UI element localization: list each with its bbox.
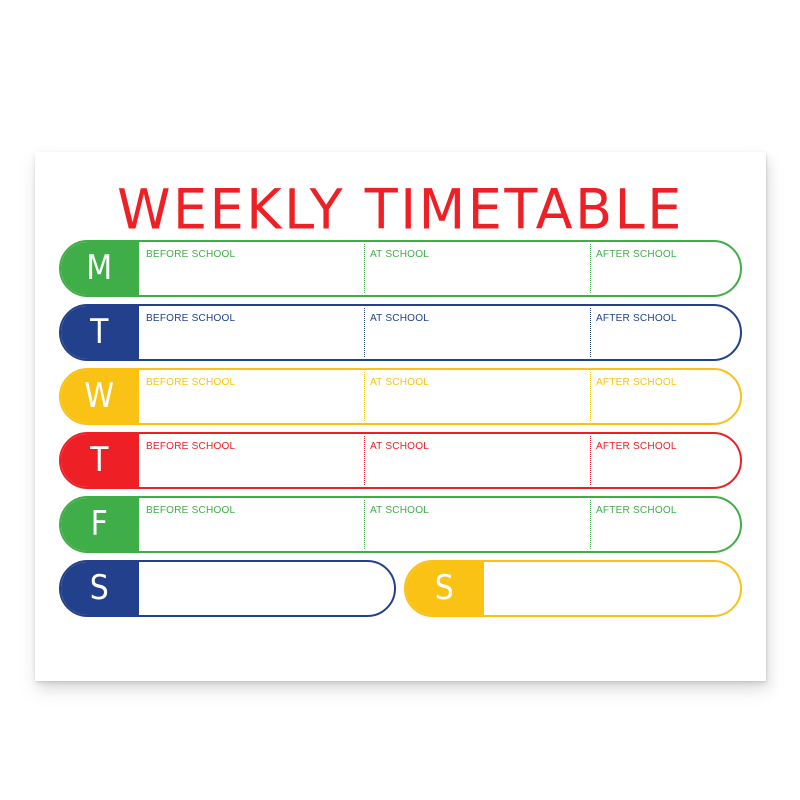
column-label-at-school: AT SCHOOL — [370, 248, 429, 260]
day-letter-thursday: T — [90, 444, 109, 478]
day-tab-friday: F — [60, 497, 139, 552]
cell-thursday-after-school[interactable]: AFTER SCHOOL — [590, 434, 740, 487]
column-label-before-school: BEFORE SCHOOL — [146, 248, 235, 260]
day-row-thursday[interactable]: T BEFORE SCHOOL AT SCHOOL AFTER SCHOOL — [59, 432, 742, 489]
write-area-monday[interactable]: BEFORE SCHOOL AT SCHOOL AFTER SCHOOL — [140, 242, 740, 295]
day-tab-wednesday: W — [60, 369, 139, 424]
cell-tuesday-at-school[interactable]: AT SCHOOL — [364, 306, 591, 359]
column-label-before-school: BEFORE SCHOOL — [146, 504, 235, 516]
cell-wednesday-before-school[interactable]: BEFORE SCHOOL — [140, 370, 364, 423]
day-row-friday[interactable]: F BEFORE SCHOOL AT SCHOOL AFTER SCHOOL — [59, 496, 742, 553]
day-row-monday[interactable]: M BEFORE SCHOOL AT SCHOOL AFTER SCHOOL — [59, 240, 742, 297]
day-tab-tuesday: T — [60, 305, 139, 360]
day-letter-sunday: S — [435, 572, 455, 606]
cell-monday-at-school[interactable]: AT SCHOOL — [364, 242, 591, 295]
cell-wednesday-after-school[interactable]: AFTER SCHOOL — [590, 370, 740, 423]
cell-monday-before-school[interactable]: BEFORE SCHOOL — [140, 242, 364, 295]
day-row-saturday[interactable]: S — [59, 560, 396, 617]
cell-thursday-at-school[interactable]: AT SCHOOL — [364, 434, 591, 487]
column-label-before-school: BEFORE SCHOOL — [146, 376, 235, 388]
write-area-thursday[interactable]: BEFORE SCHOOL AT SCHOOL AFTER SCHOOL — [140, 434, 740, 487]
weekday-rows: M BEFORE SCHOOL AT SCHOOL AFTER SCHOOL — [59, 240, 742, 617]
day-tab-saturday: S — [60, 561, 139, 616]
timetable-screenshot: WEEKLY TIMETABLE M BEFORE SCHOOL AT SCHO… — [0, 0, 800, 800]
cell-friday-before-school[interactable]: BEFORE SCHOOL — [140, 498, 364, 551]
day-letter-monday: M — [86, 252, 112, 286]
day-row-tuesday[interactable]: T BEFORE SCHOOL AT SCHOOL AFTER SCHOOL — [59, 304, 742, 361]
cell-friday-after-school[interactable]: AFTER SCHOOL — [590, 498, 740, 551]
cell-thursday-before-school[interactable]: BEFORE SCHOOL — [140, 434, 364, 487]
write-area-friday[interactable]: BEFORE SCHOOL AT SCHOOL AFTER SCHOOL — [140, 498, 740, 551]
day-row-sunday[interactable]: S — [404, 560, 742, 617]
column-label-at-school: AT SCHOOL — [370, 376, 429, 388]
column-label-after-school: AFTER SCHOOL — [596, 504, 677, 516]
cell-wednesday-at-school[interactable]: AT SCHOOL — [364, 370, 591, 423]
day-letter-friday: F — [91, 508, 109, 542]
day-tab-thursday: T — [60, 433, 139, 488]
column-label-after-school: AFTER SCHOOL — [596, 248, 677, 260]
day-letter-saturday: S — [90, 572, 110, 606]
day-row-wednesday[interactable]: W BEFORE SCHOOL AT SCHOOL AFTER SCHOOL — [59, 368, 742, 425]
column-label-after-school: AFTER SCHOOL — [596, 312, 677, 324]
page-title: WEEKLY TIMETABLE — [35, 177, 766, 242]
cell-monday-after-school[interactable]: AFTER SCHOOL — [590, 242, 740, 295]
cell-tuesday-before-school[interactable]: BEFORE SCHOOL — [140, 306, 364, 359]
write-area-sunday[interactable] — [485, 562, 740, 615]
column-label-before-school: BEFORE SCHOOL — [146, 312, 235, 324]
column-label-at-school: AT SCHOOL — [370, 440, 429, 452]
timetable-card: WEEKLY TIMETABLE M BEFORE SCHOOL AT SCHO… — [35, 152, 766, 681]
day-tab-monday: M — [60, 241, 139, 296]
day-letter-tuesday: T — [90, 316, 109, 350]
cell-friday-at-school[interactable]: AT SCHOOL — [364, 498, 591, 551]
cell-tuesday-after-school[interactable]: AFTER SCHOOL — [590, 306, 740, 359]
write-area-tuesday[interactable]: BEFORE SCHOOL AT SCHOOL AFTER SCHOOL — [140, 306, 740, 359]
column-label-at-school: AT SCHOOL — [370, 312, 429, 324]
column-label-at-school: AT SCHOOL — [370, 504, 429, 516]
column-label-after-school: AFTER SCHOOL — [596, 376, 677, 388]
day-tab-sunday: S — [405, 561, 484, 616]
day-letter-wednesday: W — [84, 380, 114, 414]
weekend-rows: S S — [59, 560, 742, 617]
column-label-before-school: BEFORE SCHOOL — [146, 440, 235, 452]
column-label-after-school: AFTER SCHOOL — [596, 440, 677, 452]
write-area-wednesday[interactable]: BEFORE SCHOOL AT SCHOOL AFTER SCHOOL — [140, 370, 740, 423]
write-area-saturday[interactable] — [140, 562, 394, 615]
